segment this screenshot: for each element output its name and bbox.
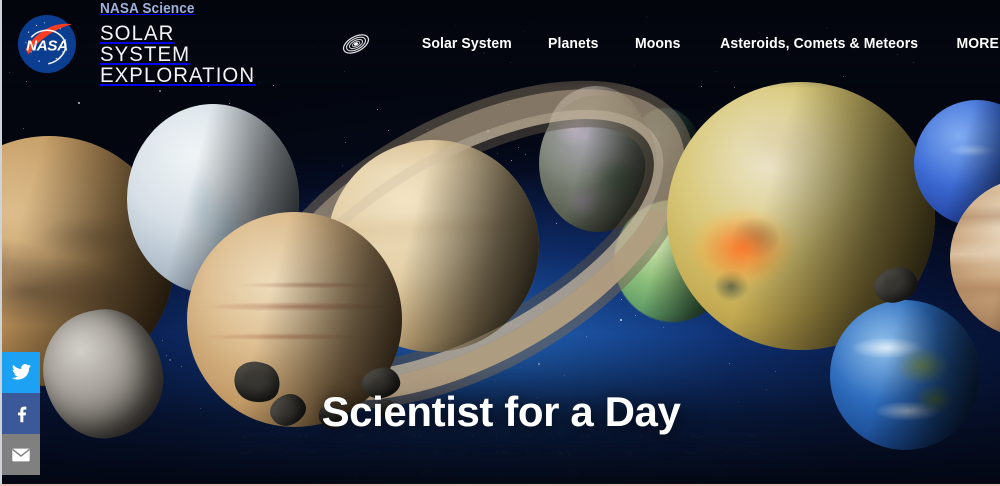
nasa-insignia-icon: NASA: [14, 11, 80, 77]
nav-item-planets[interactable]: Planets: [532, 36, 615, 52]
share-facebook-button[interactable]: [2, 393, 40, 434]
page-root: QWERTYUIOPASDFGHJKLZXCVBNM: [0, 0, 1000, 486]
nav-item-solar-system[interactable]: Solar System: [405, 36, 528, 52]
brand-supertitle: NASA Science: [100, 2, 253, 17]
brand-title: SOLAR SYSTEM EXPLORATION: [100, 23, 258, 86]
main-navigation: Solar System Planets Moons Asteroids, Co…: [339, 27, 1000, 61]
envelope-icon: [10, 444, 32, 466]
share-email-button[interactable]: [2, 434, 40, 475]
facebook-icon: [11, 403, 32, 424]
nav-item-more[interactable]: MORE: [940, 36, 999, 52]
hero-title: Scientist for a Day: [2, 388, 1000, 436]
nav-item-asteroids-comets-meteors[interactable]: Asteroids, Comets & Meteors: [703, 36, 934, 52]
share-twitter-button[interactable]: [2, 352, 40, 393]
brand-text: NASA Science SOLAR SYSTEM EXPLORATION: [100, 2, 263, 87]
galaxy-icon[interactable]: [339, 27, 373, 61]
social-share-rail: [2, 352, 40, 475]
site-header: NASA NASA Science SOLAR SYSTEM EXPLORATI…: [2, 0, 1000, 88]
nav-item-moons[interactable]: Moons: [619, 36, 697, 52]
twitter-icon: [11, 362, 32, 383]
brand-home-link[interactable]: NASA NASA Science SOLAR SYSTEM EXPLORATI…: [2, 2, 263, 87]
svg-text:NASA: NASA: [26, 38, 68, 55]
